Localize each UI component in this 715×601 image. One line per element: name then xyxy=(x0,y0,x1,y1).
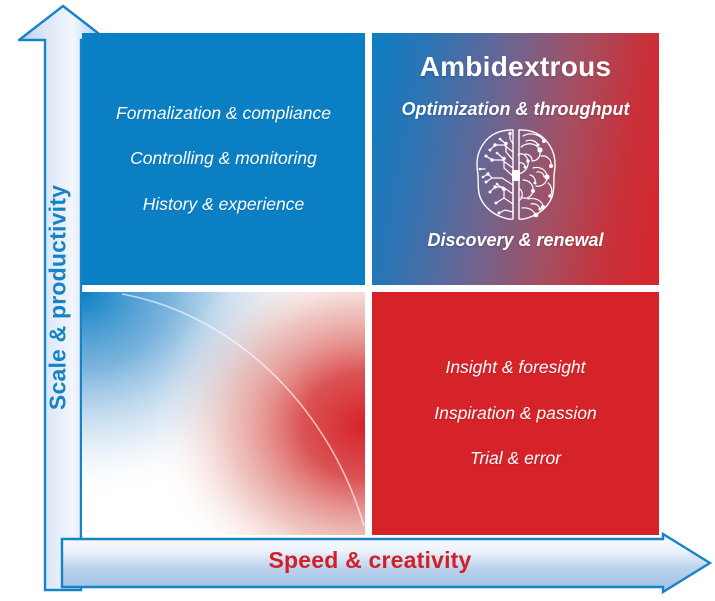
quadrant-tl-line-3: History & experience xyxy=(143,196,304,214)
quadrant-tr-subtitle-top: Optimization & throughput xyxy=(402,99,630,120)
quadrant-tl-line-2: Controlling & monitoring xyxy=(130,150,317,168)
quadrant-top-right[interactable]: Ambidextrous Optimization & throughput xyxy=(372,33,659,285)
quadrant-tl-line-1: Formalization & compliance xyxy=(116,105,331,123)
quadrant-br-line-2: Inspiration & passion xyxy=(434,405,596,423)
gradient-fill xyxy=(82,292,365,535)
diagram-canvas: Scale & productivity Speed & creativity … xyxy=(0,0,715,601)
quadrant-tr-subtitle-bottom: Discovery & renewal xyxy=(427,230,603,251)
quadrant-br-line-1: Insight & foresight xyxy=(445,359,585,377)
quadrant-title-ambidextrous: Ambidextrous xyxy=(420,51,612,83)
quadrant-top-left[interactable]: Formalization & compliance Controlling &… xyxy=(82,33,365,285)
quadrant-br-line-3: Trial & error xyxy=(470,450,561,468)
quadrant-bottom-left[interactable] xyxy=(82,292,365,535)
quadrant-bottom-right[interactable]: Insight & foresight Inspiration & passio… xyxy=(372,292,659,535)
arrow-right-icon xyxy=(60,532,712,594)
brain-icon xyxy=(473,124,559,224)
